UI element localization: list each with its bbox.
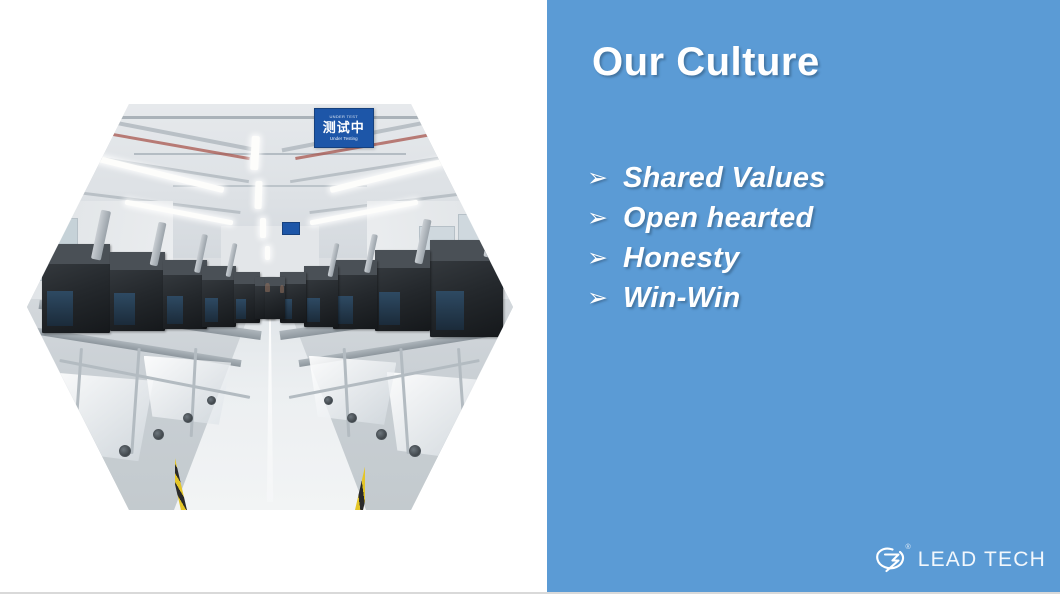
sign-chinese-text: 测试中: [323, 121, 365, 134]
worker: [265, 283, 270, 292]
brand-name: LEAD TECH: [918, 548, 1046, 572]
under-testing-sign: UNDER TEST 测试中 Under Testing: [314, 108, 374, 148]
caster-wheel: [442, 453, 455, 466]
machine-unit: [375, 250, 431, 331]
caster-wheel: [376, 429, 387, 440]
machine-unit: [430, 240, 503, 337]
list-item: ➢ Open hearted: [587, 198, 826, 238]
list-item: ➢ Win-Win: [587, 278, 826, 318]
lead-tech-swirl-icon: ®: [872, 544, 910, 576]
arrow-bullet-icon: ➢: [587, 246, 623, 271]
left-image-panel: UNDER TEST 测试中 Under Testing: [0, 0, 547, 592]
ceiling-light: [265, 246, 270, 260]
slide: UNDER TEST 测试中 Under Testing: [0, 0, 1060, 594]
arrow-bullet-icon: ➢: [587, 206, 623, 231]
list-item: ➢ Honesty: [587, 238, 826, 278]
machine-unit: [42, 244, 110, 333]
caster-wheel: [85, 453, 98, 466]
content-panel: Our Culture ➢ Shared Values ➢ Open heart…: [547, 0, 1060, 592]
list-item-label: Win-Win: [623, 282, 741, 315]
brand-logo: ® LEAD TECH: [872, 544, 1046, 576]
distant-sign: [282, 222, 300, 235]
ceiling-beam: [95, 116, 445, 119]
ceiling-beam: [134, 153, 406, 155]
sign-english-text: Under Testing: [330, 137, 358, 142]
worker: [280, 285, 284, 293]
machine-unit: [110, 252, 166, 331]
caster-wheel: [409, 445, 421, 457]
hazard-tape: [175, 307, 365, 510]
arrow-bullet-icon: ➢: [587, 286, 623, 311]
registered-mark: ®: [906, 544, 911, 551]
factory-photo: UNDER TEST 测试中 Under Testing: [27, 104, 513, 510]
list-item: ➢ Shared Values: [587, 158, 826, 198]
culture-values-list: ➢ Shared Values ➢ Open hearted ➢ Honesty…: [587, 158, 826, 318]
page-title: Our Culture: [592, 40, 820, 85]
arrow-bullet-icon: ➢: [587, 166, 623, 191]
list-item-label: Shared Values: [623, 162, 826, 195]
ceiling-light: [260, 218, 266, 238]
ceiling-light: [250, 136, 260, 170]
list-item-label: Open hearted: [623, 202, 814, 235]
sign-top-text: UNDER TEST: [329, 115, 357, 119]
list-item-label: Honesty: [623, 242, 740, 275]
hexagon-photo: UNDER TEST 测试中 Under Testing: [27, 104, 513, 510]
